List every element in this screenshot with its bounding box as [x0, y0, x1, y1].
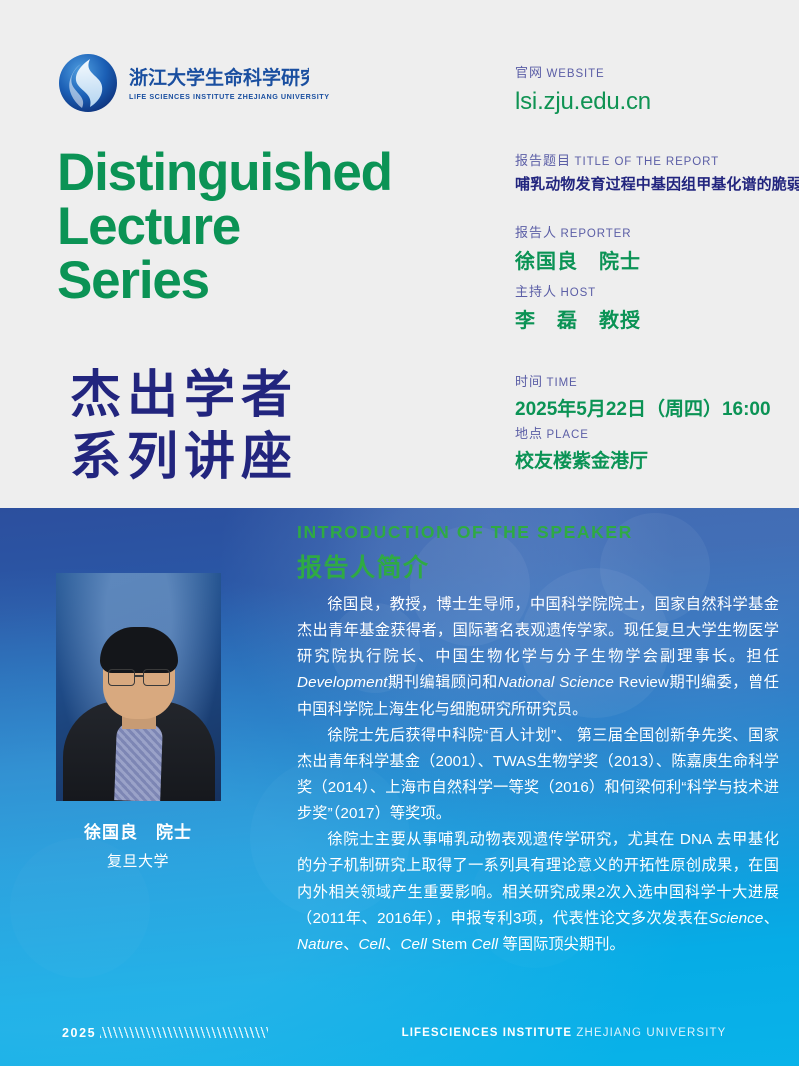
series-title-cn-line2: 系列讲座 — [70, 426, 298, 488]
institution-logo-cn: 浙江大学生命科学研究院 — [129, 65, 330, 89]
series-title-en: Distinguished Lecture Series — [57, 146, 392, 308]
place-label-en: PLACE — [547, 429, 589, 441]
host-label-cn: 主持人 — [515, 284, 557, 299]
series-title-line3: Series — [57, 254, 392, 308]
time-label: 时间 TIME — [515, 371, 795, 390]
speaker-bio: 徐国良，教授，博士生导师，中国科学院院士，国家自然科学基金杰出青年基金获得者，国… — [297, 592, 779, 958]
report-title-value: 哺乳动物发育过程中基因组甲基化谱的脆弱性 — [515, 173, 795, 194]
report-title-field: 报告题目 TITLE OF THE REPORT 哺乳动物发育过程中基因组甲基化… — [515, 150, 795, 194]
report-title-label: 报告题目 TITLE OF THE REPORT — [515, 150, 795, 169]
zju-lsi-emblem-icon — [57, 52, 119, 114]
speaker-photo-caption: 徐国良 院士 复旦大学 — [0, 818, 276, 871]
intro-heading-en: INTRODUCTION OF THE SPEAKER — [297, 522, 633, 543]
report-title-label-en: TITLE OF THE REPORT — [575, 156, 719, 168]
reporter-label-cn: 报告人 — [515, 225, 557, 240]
footer-institute-bold: LIFESCIENCES INSTITUTE — [402, 1027, 573, 1039]
footer-hatch-decoration — [100, 1027, 268, 1038]
host-field: 主持人 HOST 李 磊 教授 — [515, 281, 795, 333]
host-value: 李 磊 教授 — [515, 304, 795, 333]
time-label-en: TIME — [547, 377, 578, 389]
bio-paragraph: 徐院士先后获得中科院“百人计划”、 第三届全国创新争先奖、国家杰出青年科学基金（… — [297, 723, 779, 828]
reporter-field: 报告人 REPORTER 徐国良 院士 — [515, 222, 795, 274]
place-field: 地点 PLACE 校友楼紫金港厅 — [515, 423, 795, 473]
portrait-shirt — [114, 722, 163, 801]
series-title-cn-line1: 杰出学者 — [70, 364, 298, 426]
portrait-hair — [100, 627, 178, 673]
place-label-cn: 地点 — [515, 426, 543, 441]
institution-logo: 浙江大学生命科学研究院 LIFE SCIENCES INSTITUTE ZHEJ… — [57, 52, 330, 114]
time-label-cn: 时间 — [515, 374, 543, 389]
reporter-label-en: REPORTER — [561, 228, 632, 240]
reporter-value: 徐国良 院士 — [515, 245, 795, 274]
website-url[interactable]: lsi.zju.edu.cn — [515, 88, 651, 116]
bio-paragraph: 徐院士主要从事哺乳动物表观遗传学研究，尤其在 DNA 去甲基化的分子机制研究上取… — [297, 827, 779, 958]
host-label-en: HOST — [561, 287, 597, 299]
bio-paragraph: 徐国良，教授，博士生导师，中国科学院院士，国家自然科学基金杰出青年基金获得者，国… — [297, 592, 779, 723]
intro-heading-cn: 报告人简介 — [297, 548, 430, 584]
website-label: 官网 WEBSITE — [515, 62, 651, 81]
institution-logo-text: 浙江大学生命科学研究院 LIFE SCIENCES INSTITUTE ZHEJ… — [129, 65, 330, 101]
footer-year: 2025 — [62, 1026, 96, 1040]
speaker-photo-name: 徐国良 院士 — [0, 818, 276, 843]
series-title-cn: 杰出学者 系列讲座 — [70, 364, 298, 488]
time-field: 时间 TIME 2025年5月22日（周四）16:00 — [515, 371, 795, 421]
reporter-label: 报告人 REPORTER — [515, 222, 795, 241]
time-value: 2025年5月22日（周四）16:00 — [515, 394, 795, 421]
website-block: 官网 WEBSITE lsi.zju.edu.cn — [515, 62, 651, 116]
place-label: 地点 PLACE — [515, 423, 795, 442]
website-label-en: WEBSITE — [547, 68, 605, 80]
speaker-portrait-image — [56, 573, 221, 801]
speaker-photo — [56, 573, 221, 801]
report-title-label-cn: 报告题目 — [515, 153, 571, 168]
series-title-line1: Distinguished — [57, 146, 392, 200]
footer-institute: LIFESCIENCES INSTITUTE ZHEJIANG UNIVERSI… — [399, 1027, 729, 1039]
place-value: 校友楼紫金港厅 — [515, 446, 795, 473]
svg-text:浙江大学生命科学研究院: 浙江大学生命科学研究院 — [129, 66, 309, 89]
poster: 浙江大学生命科学研究院 LIFE SCIENCES INSTITUTE ZHEJ… — [0, 0, 799, 1066]
series-title-line2: Lecture — [57, 200, 392, 254]
institution-logo-en: LIFE SCIENCES INSTITUTE ZHEJIANG UNIVERS… — [129, 92, 330, 101]
footer-institute-light: ZHEJIANG UNIVERSITY — [576, 1027, 726, 1039]
speaker-photo-affiliation: 复旦大学 — [0, 850, 276, 871]
top-section: 浙江大学生命科学研究院 LIFE SCIENCES INSTITUTE ZHEJ… — [0, 0, 799, 508]
portrait-glasses-icon — [108, 669, 170, 685]
website-label-cn: 官网 — [515, 65, 543, 80]
host-label: 主持人 HOST — [515, 281, 795, 300]
